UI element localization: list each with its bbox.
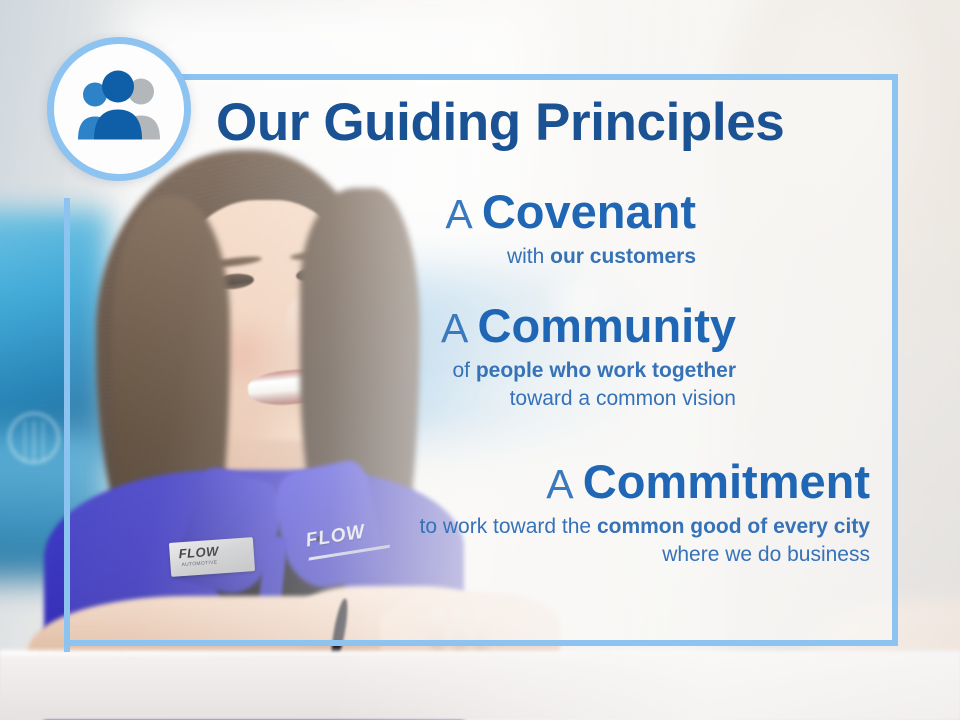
desk-edge: [0, 650, 960, 655]
page-title: Our Guiding Principles: [216, 96, 784, 149]
sub-text-plain: to work toward the: [420, 515, 597, 538]
principle-commitment-word: Commitment: [583, 455, 870, 508]
sub-text-bold: common good of every city: [597, 515, 870, 538]
principle-covenant-word: Covenant: [482, 185, 696, 238]
principle-community-lead: A: [441, 305, 477, 351]
principle-community-heading: A Community: [340, 302, 736, 350]
principle-commitment-heading: A Commitment: [400, 458, 870, 506]
principle-commitment-sub: to work toward the common good of every …: [400, 513, 870, 568]
sub-text-plain: with: [507, 245, 550, 268]
principle-covenant-lead: A: [445, 191, 481, 237]
principle-community: A Community of people who work together …: [340, 302, 736, 412]
vw-emblem-icon: [8, 412, 60, 464]
principle-covenant: A Covenant with our customers: [300, 188, 696, 271]
sub-text-bold: people who work together: [476, 359, 736, 382]
group-of-people-icon: [67, 70, 171, 149]
sub-text-plain-2: where we do business: [662, 543, 870, 566]
sub-text-plain-2: toward a common vision: [510, 387, 736, 410]
people-badge: [47, 37, 191, 181]
principle-covenant-sub: with our customers: [300, 243, 696, 271]
flow-name-badge-text: FLOW: [178, 544, 219, 562]
principle-covenant-heading: A Covenant: [300, 188, 696, 236]
flow-name-badge: FLOW AUTOMOTIVE: [169, 537, 255, 577]
flow-name-badge-subtext: AUTOMOTIVE: [181, 560, 217, 568]
principle-commitment-lead: A: [546, 461, 582, 507]
principle-commitment: A Commitment to work toward the common g…: [400, 458, 870, 568]
desk-surface: [0, 652, 960, 720]
sub-text-bold: our customers: [550, 245, 696, 268]
principle-community-word: Community: [478, 299, 737, 352]
sub-text-plain: of: [452, 359, 475, 382]
principle-community-sub: of people who work together toward a com…: [340, 357, 736, 412]
banner-canvas: FLOW AUTOMOTIVE FLOW: [0, 0, 960, 720]
